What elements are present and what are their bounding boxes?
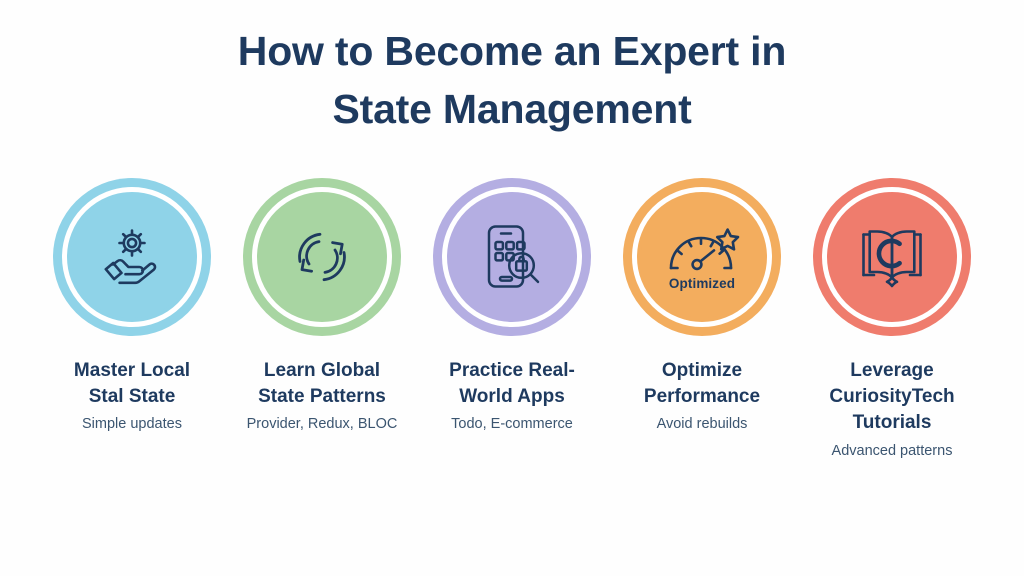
- step-3-text: Practice Real- World Apps Todo, E-commer…: [417, 358, 607, 434]
- step-4-icon-holder: Optimized: [641, 196, 763, 318]
- step-4-text: Optimize Performance Avoid rebuilds: [607, 358, 797, 434]
- step-4-title-line-1: Optimize: [607, 358, 797, 384]
- steps-row: Master Local Stal State Simple updates: [0, 178, 1024, 461]
- step-card-optimize-performance: Optimized Optimize Performance Avoid reb…: [607, 178, 797, 434]
- optimized-badge-label: Optimized: [669, 276, 735, 291]
- step-2-text: Learn Global State Patterns Provider, Re…: [227, 358, 417, 434]
- infographic-canvas: How to Become an Expert in State Managem…: [0, 0, 1024, 576]
- step-4-circle: Optimized: [623, 178, 781, 336]
- hand-holding-gear-icon: [94, 219, 170, 295]
- speedometer-star-icon: [663, 223, 741, 275]
- step-1-subtitle: Simple updates: [37, 415, 227, 434]
- step-3-subtitle: Todo, E-commerce: [417, 415, 607, 434]
- phone-magnifier-icon: [475, 220, 549, 294]
- step-5-title-line-1: Leverage: [797, 358, 987, 384]
- step-4-title-line-2: Performance: [607, 384, 797, 410]
- step-1-title-line-2: Stal State: [37, 384, 227, 410]
- step-5-icon-holder: [831, 196, 953, 318]
- step-5-text: Leverage CuriosityTech Tutorials Advance…: [797, 358, 987, 461]
- step-5-title-line-2: CuriosityTech: [797, 384, 987, 410]
- step-3-title-line-2: World Apps: [417, 384, 607, 410]
- step-card-leverage-curiositytech-tutorials: Leverage CuriosityTech Tutorials Advance…: [797, 178, 987, 461]
- step-card-practice-real-world-apps: Practice Real- World Apps Todo, E-commer…: [417, 178, 607, 434]
- step-2-icon-holder: [261, 196, 383, 318]
- step-4-subtitle: Avoid rebuilds: [607, 415, 797, 434]
- title-line-1: How to Become an Expert in: [0, 22, 1024, 80]
- step-card-master-local-state: Master Local Stal State Simple updates: [37, 178, 227, 434]
- step-2-title-line-2: State Patterns: [227, 384, 417, 410]
- step-1-text: Master Local Stal State Simple updates: [37, 358, 227, 434]
- step-5-title-line-3: Tutorials: [797, 410, 987, 436]
- step-1-title-line-1: Master Local: [37, 358, 227, 384]
- step-2-title-line-1: Learn Global: [227, 358, 417, 384]
- step-3-title-line-1: Practice Real-: [417, 358, 607, 384]
- step-3-icon-holder: [451, 196, 573, 318]
- step-card-learn-global-state-patterns: Learn Global State Patterns Provider, Re…: [227, 178, 417, 434]
- step-2-subtitle: Provider, Redux, BLOC: [227, 415, 417, 434]
- step-1-circle: [53, 178, 211, 336]
- title-line-2: State Management: [0, 80, 1024, 138]
- step-3-circle: [433, 178, 591, 336]
- open-book-c-icon: [855, 222, 929, 292]
- step-5-subtitle: Advanced patterns: [797, 442, 987, 461]
- step-2-circle: [243, 178, 401, 336]
- step-5-circle: [813, 178, 971, 336]
- sync-arrows-icon: [287, 222, 357, 292]
- step-1-icon-holder: [71, 196, 193, 318]
- page-title: How to Become an Expert in State Managem…: [0, 22, 1024, 138]
